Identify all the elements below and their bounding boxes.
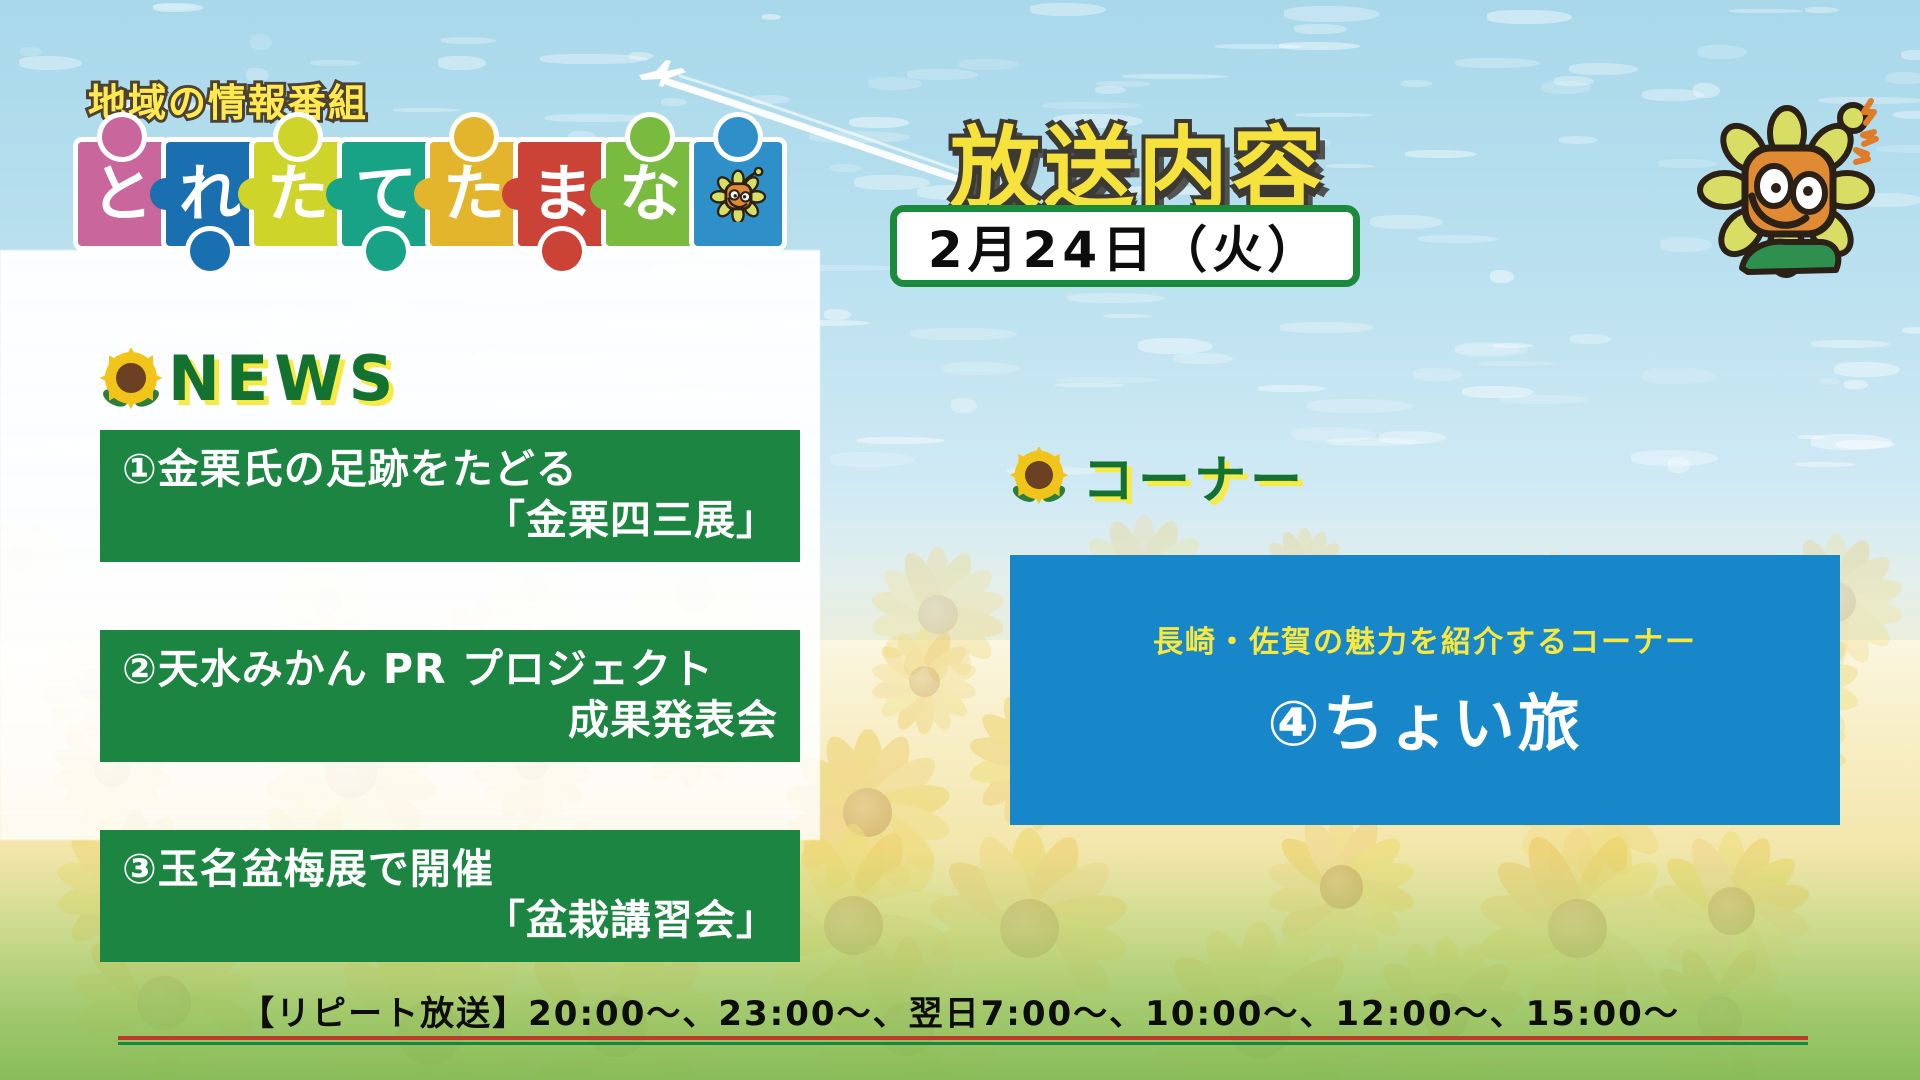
sky-texture-speck [1795, 462, 1855, 467]
sky-texture-speck [1541, 81, 1591, 94]
sky-texture-speck [809, 131, 910, 143]
sky-texture-speck [1307, 399, 1413, 412]
repeat-broadcast-footer: 【リピート放送】20:00〜、23:00〜、翌日7:00〜、10:00〜、12:… [0, 975, 1920, 1045]
sky-texture-speck [849, 117, 908, 128]
sky-texture-speck [1418, 235, 1497, 243]
sky-texture-speck [661, 98, 686, 106]
sky-texture-speck [19, 56, 82, 69]
sunflower-icon [100, 348, 162, 410]
sky-texture-speck [959, 59, 1019, 69]
sky-texture-speck [540, 54, 648, 64]
sky-texture-speck [1844, 380, 1868, 390]
news-item-1[interactable]: ①金栗氏の足跡をたどる 「金栗四三展」 [100, 430, 800, 562]
sunflower-icon [1010, 447, 1068, 505]
sky-texture-speck [1455, 58, 1540, 68]
sky-texture-speck [1902, 327, 1920, 334]
sky-texture-speck [1258, 385, 1325, 392]
news-item-3-line2: 「盆栽講習会」 [122, 895, 778, 946]
sky-texture-speck [393, 108, 459, 112]
sky-texture-speck [1405, 150, 1478, 158]
sky-texture-speck [1030, 3, 1106, 16]
news-item-1-line2: 「金栗四三展」 [122, 495, 778, 546]
sky-texture-speck [1294, 24, 1347, 35]
sky-texture-speck [1487, 10, 1572, 25]
sky-texture-speck [441, 37, 496, 44]
logo-puzzle-connector [502, 178, 534, 210]
sky-texture-speck [1174, 353, 1234, 364]
sky-texture-speck [1401, 80, 1432, 87]
sky-texture-speck [910, 328, 1017, 340]
sky-texture-speck [824, 309, 851, 319]
sky-texture-speck [1103, 314, 1153, 318]
broadcast-date-text: 2月24日（火） [928, 210, 1322, 282]
logo-puzzle-knob [454, 117, 494, 157]
sky-texture-speck [762, 14, 781, 19]
logo-puzzle-connector [414, 178, 446, 210]
corner-subtitle: 長崎・佐賀の魅力を紹介するコーナー [1153, 617, 1697, 661]
news-item-3[interactable]: ③玉名盆梅展で開催 「盆栽講習会」 [100, 830, 800, 962]
corner-section-label: コーナー [1082, 438, 1306, 513]
sky-texture-speck [868, 77, 923, 90]
sky-texture-speck [1490, 270, 1514, 283]
sky-texture-speck [1642, 368, 1717, 384]
sky-texture-speck [943, 362, 1019, 374]
sky-texture-speck [1729, 9, 1804, 14]
sky-texture-speck [1834, 362, 1901, 377]
sky-texture-speck [1279, 42, 1360, 50]
sky-texture-speck [1901, 50, 1920, 60]
sky-texture-speck [1122, 74, 1229, 79]
sky-texture-speck [1569, 63, 1638, 74]
sky-texture-speck [310, 60, 360, 66]
sky-texture-speck [1280, 322, 1374, 333]
logo-puzzle-connector [590, 178, 622, 210]
repeat-broadcast-text: 【リピート放送】20:00〜、23:00〜、翌日7:00〜、10:00〜、12:… [240, 986, 1680, 1035]
logo-puzzle-knob [542, 231, 582, 271]
logo-puzzle-knob [278, 117, 318, 157]
sky-texture-speck [153, 3, 203, 12]
corner-content-box[interactable]: 長崎・佐賀の魅力を紹介するコーナー ④ちょい旅 [1010, 555, 1840, 825]
sky-texture-speck [857, 437, 945, 444]
sky-texture-speck [1559, 136, 1598, 143]
sky-texture-speck [951, 398, 977, 413]
logo-puzzle-connector [326, 178, 358, 210]
corner-section-header: コーナー [1010, 438, 1306, 513]
sky-texture-speck [1698, 45, 1747, 59]
sky-texture-speck [907, 69, 978, 79]
sky-texture-speck [1326, 164, 1375, 168]
sky-texture-speck [1455, 344, 1520, 355]
sky-texture-speck [250, 34, 272, 49]
news-item-3-line1: ③玉名盆梅展で開催 [122, 844, 778, 895]
sky-texture-speck [1095, 86, 1126, 94]
sunflower-mascot-icon [1690, 90, 1900, 290]
program-title-logo: とれたてたまな [78, 120, 778, 270]
sky-texture-speck [1819, 378, 1840, 385]
broadcast-date-box: 2月24日（火） [890, 205, 1360, 287]
sky-texture-speck [1811, 340, 1890, 348]
logo-puzzle-connector [238, 178, 270, 210]
sky-texture-speck [20, 47, 42, 56]
news-item-1-line1: ①金栗氏の足跡をたどる [122, 444, 778, 495]
sky-texture-speck [1138, 338, 1213, 354]
sky-texture-speck [1805, 7, 1839, 13]
sky-texture-speck [751, 95, 790, 104]
sky-texture-speck [830, 164, 861, 172]
corner-title: ④ちょい旅 [1267, 673, 1583, 763]
logo-puzzle-knob [718, 117, 758, 157]
news-item-2-line1: ②天水みかん PR プロジェクト [122, 644, 778, 695]
sky-texture-speck [1284, 6, 1380, 22]
broadcast-graphic-stage: 地域の情報番組 地域の情報番組 とれたてたまな 放送内容 放送内容 2月24日（… [0, 0, 1920, 1080]
logo-puzzle-knob [366, 231, 406, 271]
sky-texture-speck [1413, 368, 1463, 381]
sky-texture-speck [1370, 215, 1443, 229]
sky-texture-speck [1067, 293, 1165, 303]
sky-texture-speck [1886, 72, 1920, 84]
sky-texture-speck [1798, 435, 1824, 440]
logo-puzzle-knob [630, 117, 670, 157]
footer-divider-red [118, 1036, 1808, 1040]
news-section-header: NEWS [100, 342, 399, 415]
sky-texture-speck [1327, 438, 1421, 446]
logo-puzzle-knob [190, 231, 230, 271]
sky-texture-speck [854, 175, 930, 190]
sky-texture-speck [830, 452, 916, 467]
sky-texture-speck [1462, 386, 1535, 398]
sky-texture-speck [1096, 81, 1151, 87]
sky-texture-speck [1055, 383, 1124, 388]
footer-divider-green [118, 1042, 1808, 1045]
logo-puzzle-knob [102, 117, 142, 157]
sky-texture-speck [1478, 361, 1555, 366]
logo-puzzle-connector [150, 178, 182, 210]
logo-puzzle-piece-mascot [694, 142, 782, 246]
airplane-icon [636, 58, 688, 88]
sky-texture-speck [1668, 457, 1690, 473]
sunflower-decoration [868, 625, 980, 737]
sky-texture-speck [438, 56, 486, 71]
news-section-label: NEWS [168, 342, 399, 415]
sky-texture-speck [1056, 377, 1158, 383]
sky-texture-speck [1570, 334, 1610, 344]
news-item-2[interactable]: ②天水みかん PR プロジェクト 成果発表会 [100, 630, 800, 762]
mini-sunflower-mascot-icon [710, 166, 766, 222]
news-item-2-line2: 成果発表会 [122, 695, 778, 746]
